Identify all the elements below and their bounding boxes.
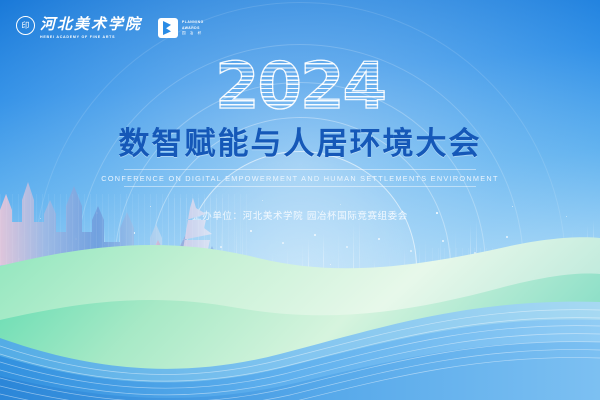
page-title: 数智赋能与人居环境大会 [0,127,600,161]
university-logo[interactable]: 印 河北美术学院 HEBEI ACADEMY OF FINE ARTS [16,16,142,40]
conference-poster: 印 河北美术学院 HEBEI ACADEMY OF FINE ARTS PLAN… [0,0,600,400]
partner-name-cn: 园 冶 杯 [182,32,204,36]
partner-logo[interactable]: PLANNING AWARDS 园 冶 杯 [158,18,204,38]
partner-name-en-line1: PLANNING [182,20,204,25]
landscape-illustration [0,170,600,400]
university-name-cn: 河北美术学院 [40,17,142,33]
university-name-en: HEBEI ACADEMY OF FINE ARTS [40,35,115,40]
year-text: 2024 [215,55,385,119]
year-block: 2024 [0,55,600,119]
planning-awards-mark-icon [158,18,178,38]
university-seal-icon: 印 [16,16,35,35]
header-logos: 印 河北美术学院 HEBEI ACADEMY OF FINE ARTS PLAN… [16,16,204,40]
